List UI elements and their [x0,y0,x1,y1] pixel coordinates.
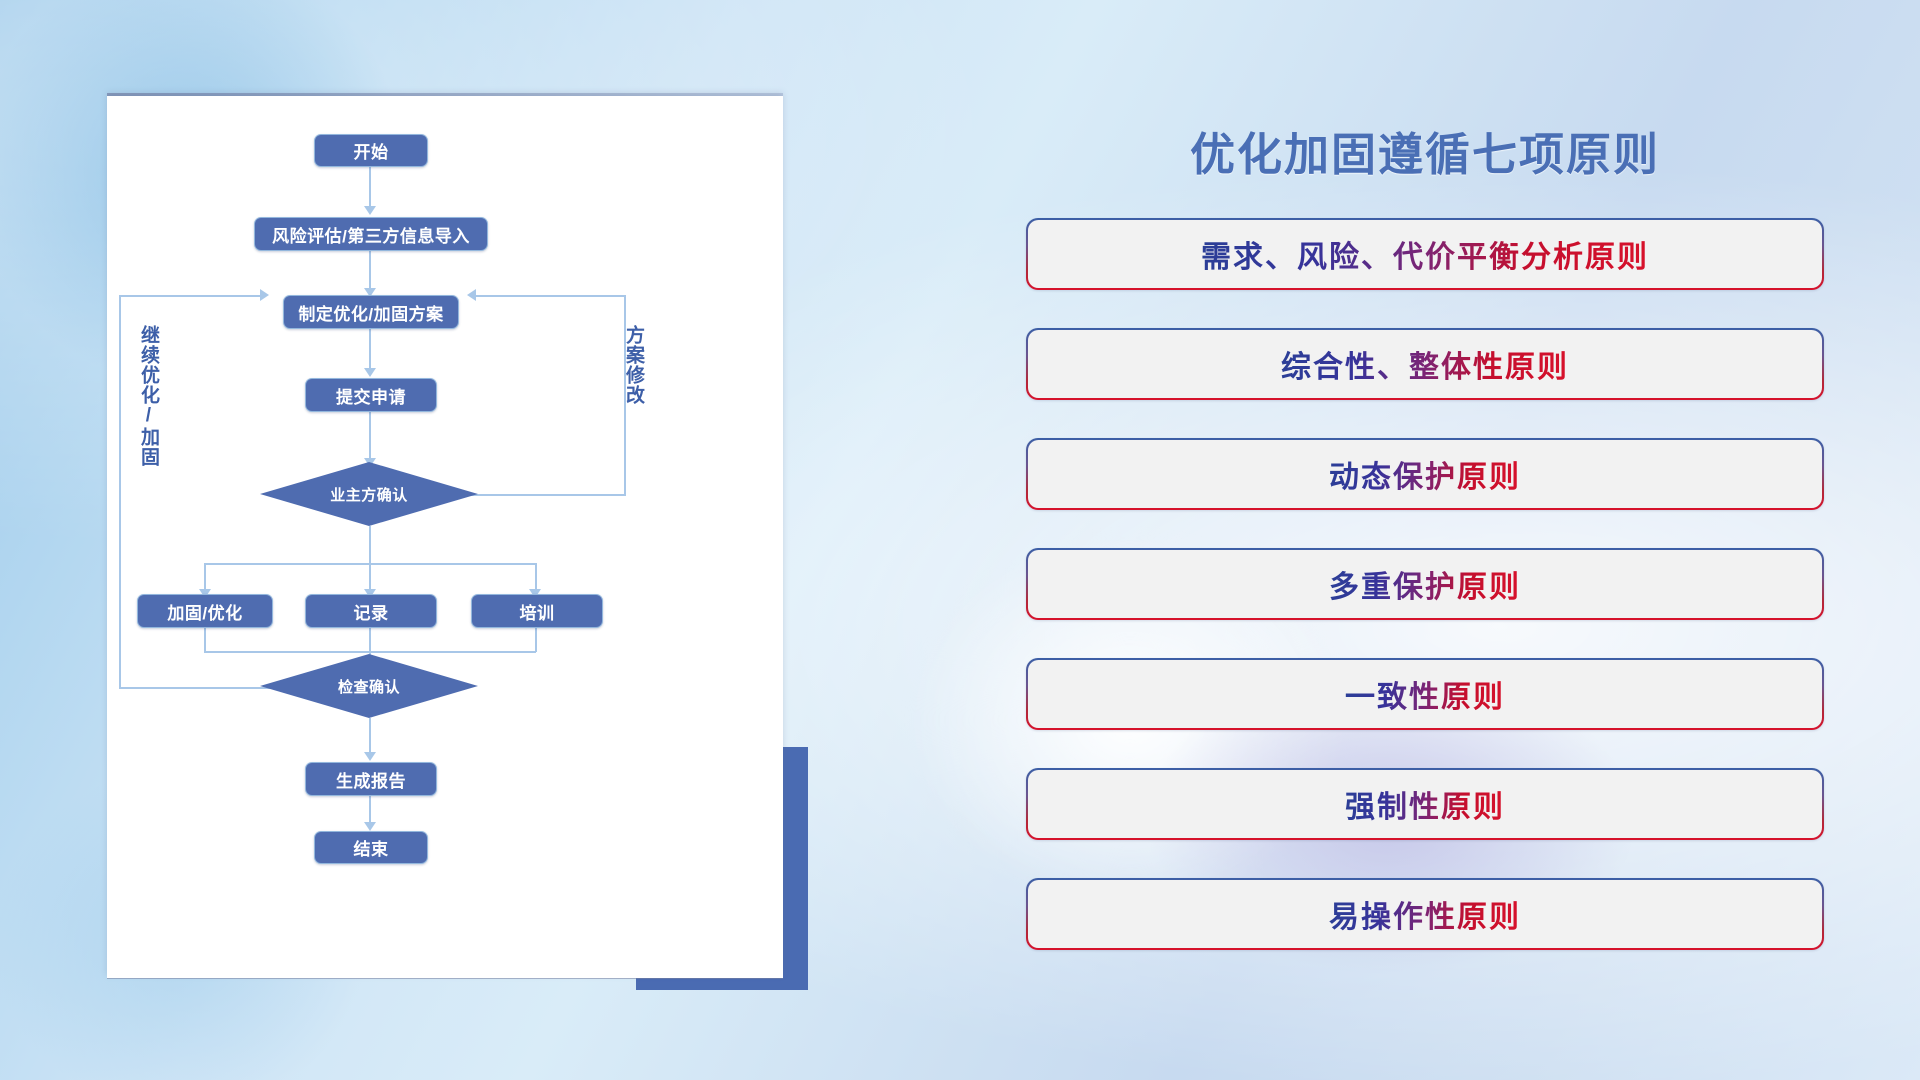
flow-edge-label-right-loop: 方案修改 [623,325,643,405]
principle-item-7-label: 易操作性原则 [1329,892,1521,936]
arrowhead-report-to-end [364,822,376,831]
principle-item-3-inner: 动态保护原则 [1026,438,1824,510]
principle-item-6[interactable]: 强制性原则 [1026,768,1824,840]
principle-item-1-label: 需求、风险、代价平衡分析原则 [1201,232,1649,276]
flow-edge-label-left-loop: 继续优化/加固 [138,325,158,467]
flow-node-generate-report-label: 生成报告 [336,767,406,792]
arrowhead-right-to-plan [467,289,476,301]
principle-item-5[interactable]: 一致性原则 [1026,658,1824,730]
principle-item-2[interactable]: 综合性、整体性原则 [1026,328,1824,400]
principle-item-6-label: 强制性原则 [1345,782,1505,826]
flow-node-reinforce-optimize[interactable]: 加固/优化 [137,594,273,628]
flow-decision-check-confirm-label: 检查确认 [260,654,478,718]
flow-decision-owner-confirm[interactable]: 业主方确认 [260,462,478,526]
principle-item-7-inner: 易操作性原则 [1026,878,1824,950]
flow-node-submit-application-label: 提交申请 [336,383,406,408]
principle-item-3[interactable]: 动态保护原则 [1026,438,1824,510]
flow-decision-owner-confirm-label: 业主方确认 [260,462,478,526]
connector-reinforce-down [204,626,206,652]
flow-node-training-label: 培训 [520,599,555,624]
flow-node-make-plan-label: 制定优化/加固方案 [298,300,443,325]
principle-item-4-inner: 多重保护原则 [1026,548,1824,620]
connector-training-down [535,626,537,652]
arrowhead-left-to-plan [260,289,269,301]
connector-check-left [119,687,281,689]
arrowhead-plan-to-submit [364,368,376,377]
flow-node-training[interactable]: 培训 [471,594,603,628]
principles-panel: 优化加固遵循七项原则 需求、风险、代价平衡分析原则 综合性、整体性原则 动态保护… [1010,96,1840,996]
connector-submit-to-owner [369,410,371,462]
principle-item-5-inner: 一致性原则 [1026,658,1824,730]
flow-node-end-label: 结束 [354,835,389,860]
flow-node-record[interactable]: 记录 [305,594,437,628]
principle-item-2-inner: 综合性、整体性原则 [1026,328,1824,400]
flow-node-start-label: 开始 [354,138,389,163]
arrowhead-check-to-report [364,752,376,761]
flow-node-record-label: 记录 [354,599,389,624]
connector-left-to-plan [119,295,261,297]
principle-item-3-label: 动态保护原则 [1329,452,1521,496]
connector-risk-to-plan [369,248,371,292]
principle-item-6-inner: 强制性原则 [1026,768,1824,840]
flow-node-start[interactable]: 开始 [314,134,428,167]
connector-plan-to-submit [369,326,371,372]
principle-item-1[interactable]: 需求、风险、代价平衡分析原则 [1026,218,1824,290]
connector-left-up [119,295,121,688]
principle-item-2-label: 综合性、整体性原则 [1281,342,1569,386]
flow-decision-check-confirm[interactable]: 检查确认 [260,654,478,718]
connector-owner-right [456,494,626,496]
flow-node-make-plan[interactable]: 制定优化/加固方案 [283,295,459,329]
connector-check-to-report [369,718,371,756]
slide-canvas: 开始 风险评估/第三方信息导入 制定优化/加固方案 提交申请 业主方确认 加固/… [0,0,1920,1080]
flow-node-submit-application[interactable]: 提交申请 [305,378,437,412]
flow-node-risk-assessment-label: 风险评估/第三方信息导入 [272,222,470,247]
principle-item-4-label: 多重保护原则 [1329,562,1521,606]
flow-node-generate-report[interactable]: 生成报告 [305,762,437,796]
arrowhead-start-to-risk [364,206,376,215]
flowchart: 开始 风险评估/第三方信息导入 制定优化/加固方案 提交申请 业主方确认 加固/… [107,96,783,978]
flow-node-risk-assessment[interactable]: 风险评估/第三方信息导入 [254,217,488,251]
connector-start-to-risk [369,164,371,210]
flow-node-reinforce-optimize-label: 加固/优化 [167,599,242,624]
principle-item-4[interactable]: 多重保护原则 [1026,548,1824,620]
connector-right-to-plan [476,295,626,297]
principle-item-5-label: 一致性原则 [1345,672,1505,716]
panel-title: 优化加固遵循七项原则 [1010,118,1840,183]
principle-item-7[interactable]: 易操作性原则 [1026,878,1824,950]
principle-item-1-inner: 需求、风险、代价平衡分析原则 [1026,218,1824,290]
connector-owner-down [369,526,371,564]
flow-node-end[interactable]: 结束 [314,831,428,864]
